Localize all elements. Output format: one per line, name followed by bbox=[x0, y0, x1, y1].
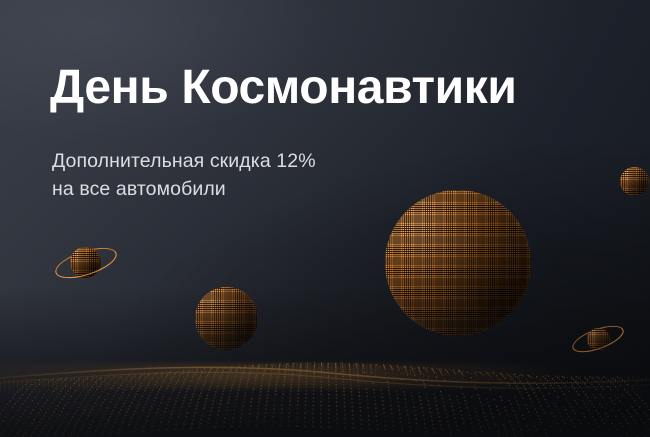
subtitle-line-2: на все автомобили bbox=[52, 176, 316, 204]
subtitle: Дополнительная скидка 12% на все автомоб… bbox=[52, 148, 316, 203]
bottom-fade bbox=[0, 287, 650, 437]
small-moon bbox=[620, 167, 649, 196]
subtitle-line-1: Дополнительная скидка 12% bbox=[52, 148, 316, 176]
page-title: День Космонавтики bbox=[50, 63, 517, 114]
ringed-planet-left bbox=[54, 232, 118, 294]
space-promo-banner: День Космонавтики Дополнительная скидка … bbox=[0, 0, 650, 437]
